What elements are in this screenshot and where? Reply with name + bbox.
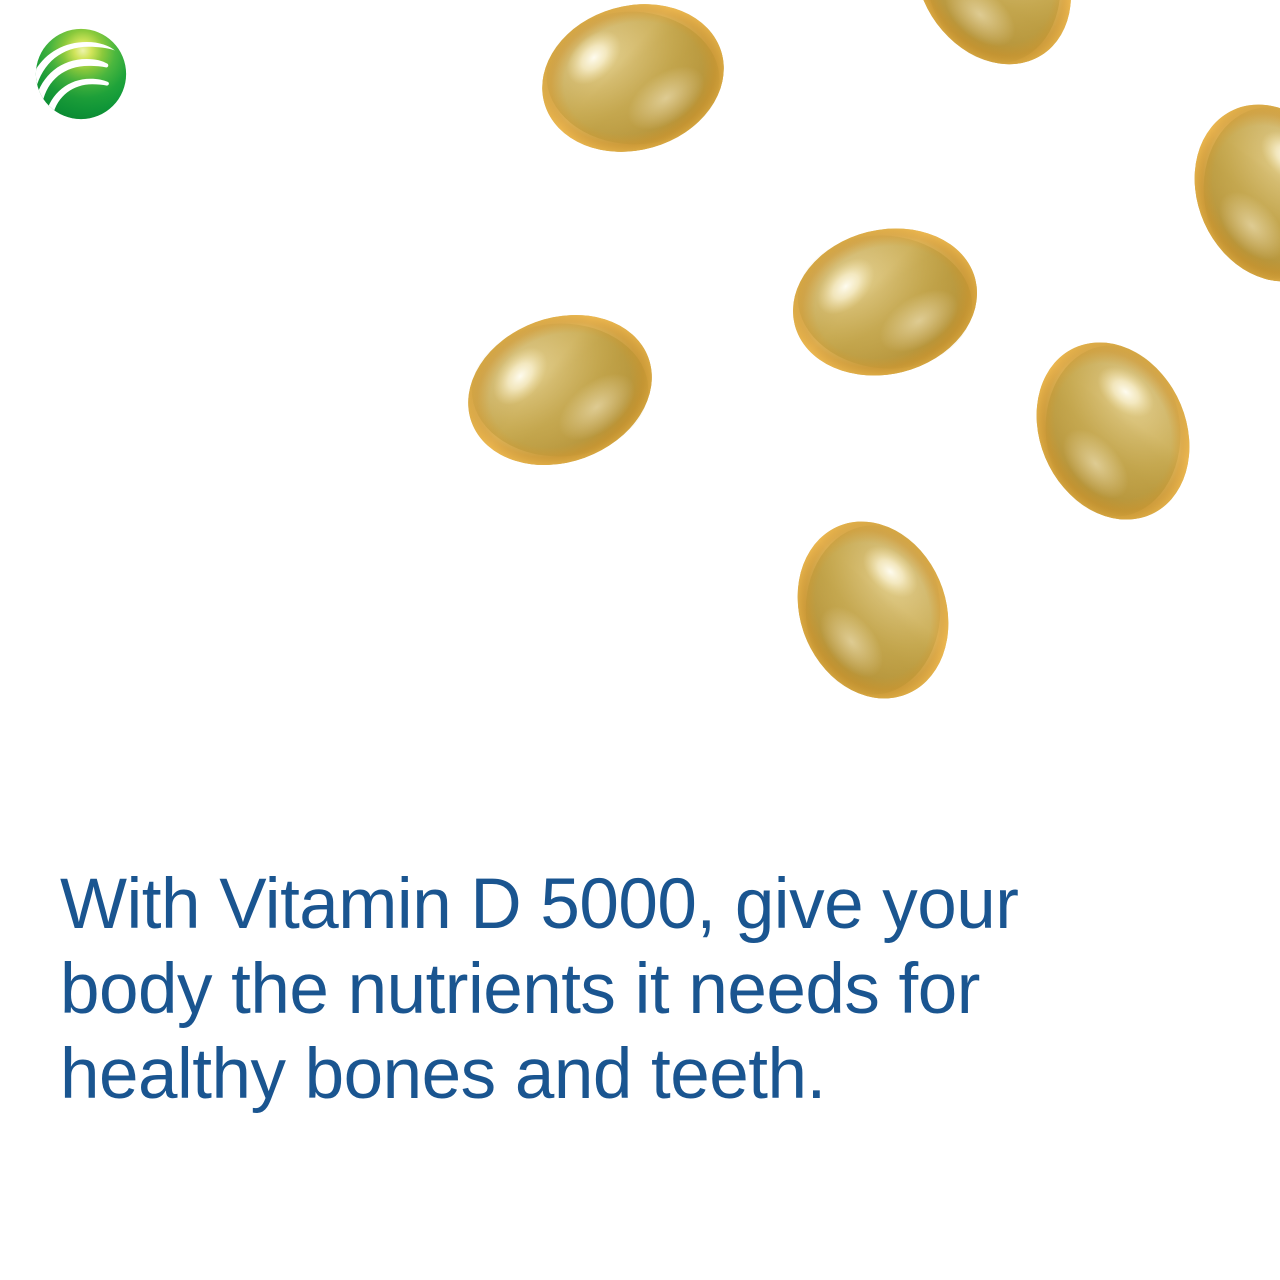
tagline-line-2: body the nutrients it needs for — [60, 947, 1070, 1032]
capsule-field — [0, 0, 1280, 790]
tagline: With Vitamin D 5000, give your body the … — [60, 862, 1070, 1117]
softgel-capsule — [775, 207, 995, 397]
softgel-capsule — [798, 518, 948, 702]
softgel-capsule — [1165, 78, 1280, 309]
product-marketing-image: With Vitamin D 5000, give your body the … — [0, 0, 1280, 1280]
tagline-line-3: healthy bones and teeth. — [60, 1032, 1070, 1117]
softgel-capsule — [522, 0, 744, 175]
softgel-capsule — [444, 288, 675, 493]
softgel-capsule — [881, 0, 1105, 96]
softgel-capsule — [1038, 338, 1188, 524]
tagline-line-1: With Vitamin D 5000, give your — [60, 862, 1070, 947]
